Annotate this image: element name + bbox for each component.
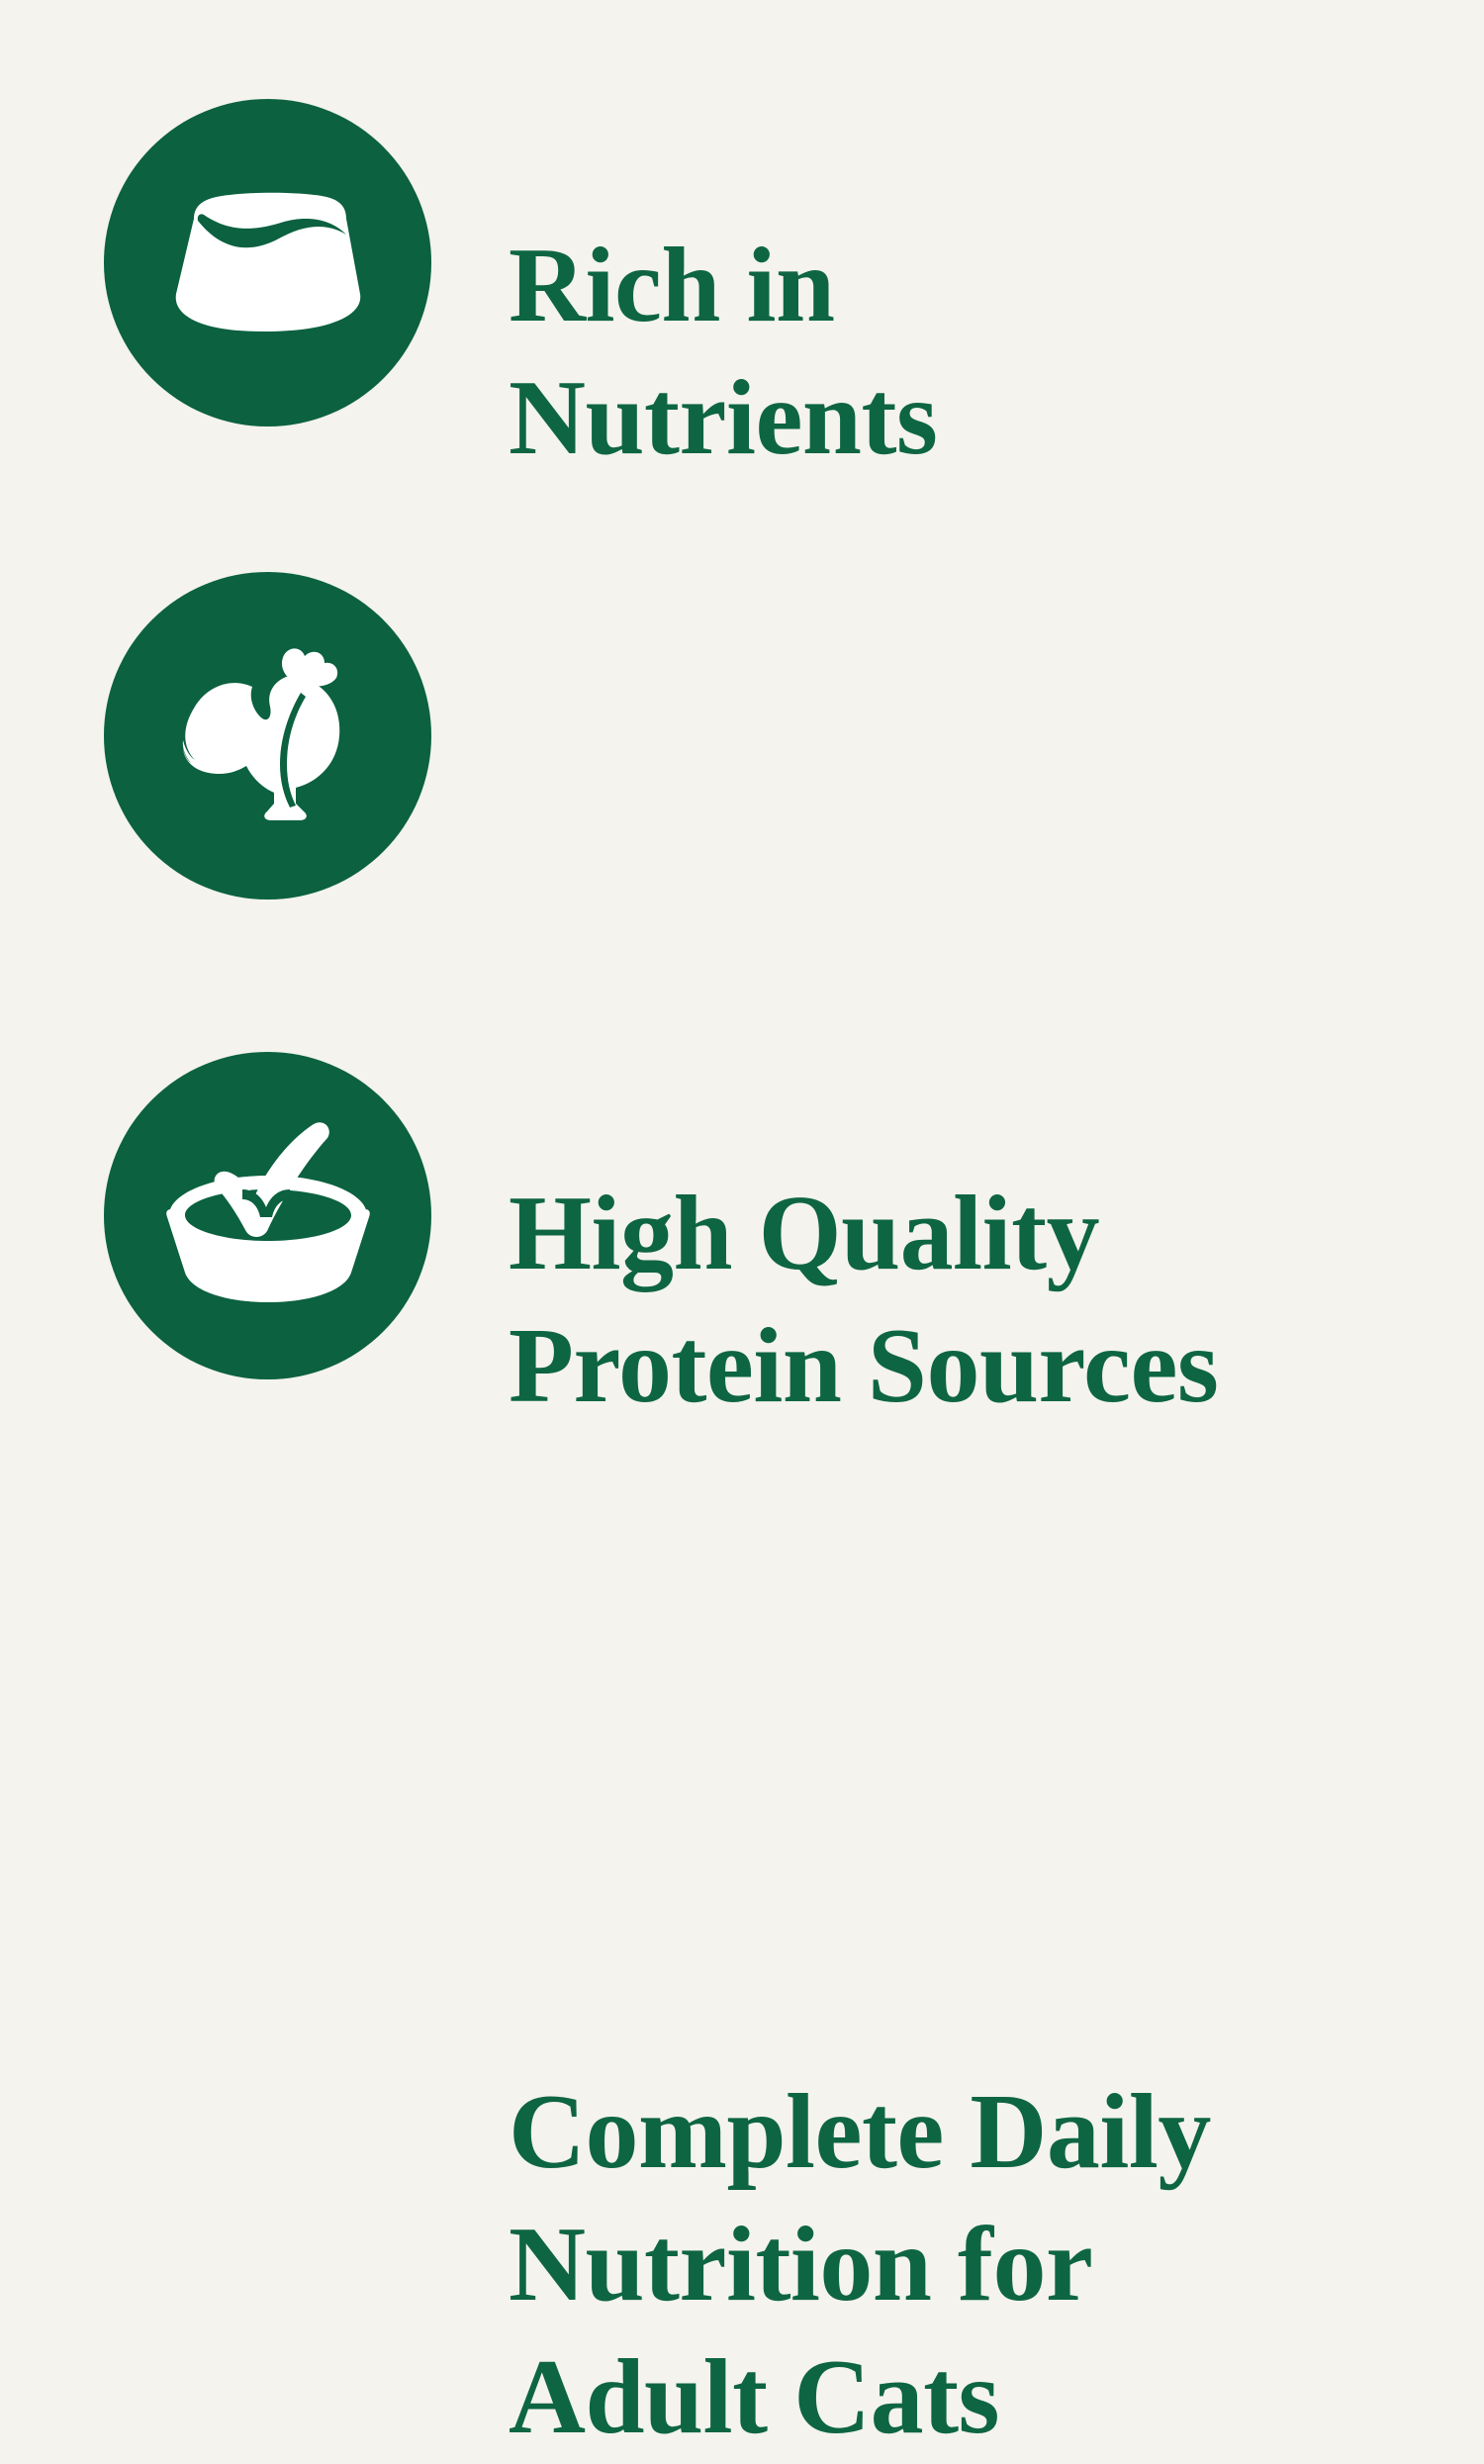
food-bowl-icon (164, 189, 372, 337)
benefit-row: Complete Daily Nutrition for Adult Cats (0, 1052, 1484, 1384)
bowl-checkmark-badge (104, 1052, 431, 1379)
rooster-badge (104, 572, 431, 900)
benefit-heading: Complete Daily Nutrition for Adult Cats (509, 2066, 1438, 2464)
benefit-heading: Rich in Nutrients (509, 220, 1438, 485)
benefit-row: Rich in Nutrients (0, 99, 1484, 431)
food-bowl-badge (104, 99, 431, 426)
bowl-checkmark-icon (155, 1114, 381, 1317)
benefit-row: High Quality Protein Sources (0, 572, 1484, 904)
benefits-panel: Rich in Nutrients High Quality Protein S… (0, 0, 1484, 1484)
rooster-icon (169, 637, 367, 835)
